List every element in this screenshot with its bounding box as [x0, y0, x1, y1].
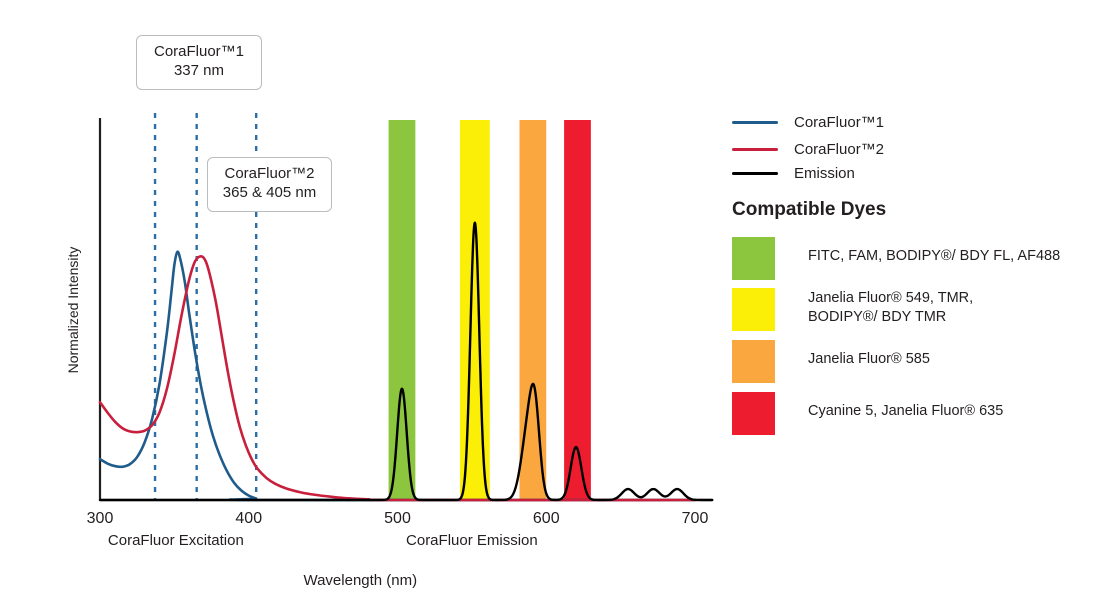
dye-label-red: Cyanine 5, Janelia Fluor® 635 [808, 392, 1003, 421]
dye-label-yellow: Janelia Fluor® 549, TMR, BODIPY®/ BDY TM… [808, 288, 973, 327]
dye-color-swatch-red [732, 392, 775, 435]
annotation-cf2-line2: 365 & 405 nm [220, 184, 319, 203]
green-band [389, 120, 416, 500]
annotation-cf1-line1: CoraFluor™1 [154, 43, 244, 60]
annotation-corafluor2: CoraFluor™2 365 & 405 nm [207, 157, 332, 212]
x-tick-label: 300 [87, 510, 114, 527]
dye-color-swatch-yellow [732, 288, 775, 331]
legend-line-swatch-corafluor2 [732, 148, 778, 151]
dye-label-orange-line1: Janelia Fluor® 585 [808, 350, 930, 369]
axis-region-label: CoraFluor Emission [406, 532, 538, 549]
x-tick-label: 600 [533, 510, 560, 527]
legend-item-corafluor1: CoraFluor™1 [732, 114, 884, 131]
side-panel: CoraFluor™1 CoraFluor™2 Emission Compati… [730, 0, 1110, 612]
x-axis-title: Wavelength (nm) [303, 572, 417, 589]
legend-item-emission: Emission [732, 165, 855, 182]
annotation-corafluor1: CoraFluor™1 337 nm [136, 35, 262, 90]
red-band [564, 120, 591, 500]
annotation-cf1-line2: 337 nm [149, 62, 249, 81]
spectra-plot: 300400500600700CoraFluor ExcitationCoraF… [0, 0, 730, 612]
dye-label-yellow-line1: Janelia Fluor® 549, TMR, [808, 289, 973, 308]
annotation-cf2-line1: CoraFluor™2 [224, 165, 314, 182]
axis-region-label: CoraFluor Excitation [108, 532, 244, 549]
dye-label-red-line1: Cyanine 5, Janelia Fluor® 635 [808, 402, 1003, 421]
legend-label-emission: Emission [794, 165, 855, 182]
legend-label-corafluor1: CoraFluor™1 [794, 114, 884, 131]
dye-item-green: FITC, FAM, BODIPY®/ BDY FL, AF488 [732, 237, 1060, 280]
legend-line-swatch-corafluor1 [732, 121, 778, 124]
dye-label-yellow-line2: BODIPY®/ BDY TMR [808, 308, 973, 327]
legend-label-corafluor2: CoraFluor™2 [794, 141, 884, 158]
dye-item-red: Cyanine 5, Janelia Fluor® 635 [732, 392, 1003, 435]
plot-area: 300400500600700CoraFluor ExcitationCoraF… [0, 0, 730, 612]
dye-label-green: FITC, FAM, BODIPY®/ BDY FL, AF488 [808, 237, 1060, 266]
x-tick-label: 400 [235, 510, 262, 527]
dye-color-swatch-green [732, 237, 775, 280]
legend-item-corafluor2: CoraFluor™2 [732, 141, 884, 158]
dye-item-yellow: Janelia Fluor® 549, TMR, BODIPY®/ BDY TM… [732, 288, 973, 331]
yellow-band [460, 120, 490, 500]
x-tick-label: 500 [384, 510, 411, 527]
legend-line-swatch-emission [732, 172, 778, 175]
x-tick-label: 700 [682, 510, 709, 527]
compatible-dyes-heading: Compatible Dyes [732, 199, 886, 221]
y-axis-title: Normalized Intensity [65, 247, 81, 374]
dye-item-orange: Janelia Fluor® 585 [732, 340, 930, 383]
chart-figure: 300400500600700CoraFluor ExcitationCoraF… [0, 0, 1110, 612]
dye-label-orange: Janelia Fluor® 585 [808, 340, 930, 369]
dye-color-swatch-orange [732, 340, 775, 383]
dye-label-green-line1: FITC, FAM, BODIPY®/ BDY FL, AF488 [808, 247, 1060, 266]
